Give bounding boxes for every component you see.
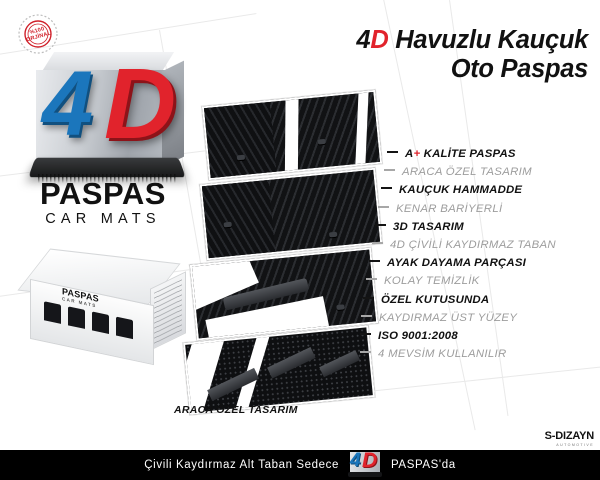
feature-item-1: ARACA ÖZEL TASARIM [384, 166, 600, 184]
mat-stud [329, 232, 337, 238]
banner-text-right: PASPAS'da [391, 459, 456, 471]
feature-dash [387, 151, 398, 153]
feature-dash [360, 351, 371, 353]
feature-item-9: KAYDIRMAZ ÜST YÜZEY [361, 312, 600, 330]
banner-logo-4d: 4 D [345, 450, 385, 480]
gallery-panel-mat-driver-closeup [200, 168, 382, 261]
banner-logo-base [348, 472, 382, 477]
feature-dash [363, 297, 374, 299]
feature-label: AYAK DAYAMA PARÇASI [387, 257, 526, 269]
mat-stud [318, 139, 326, 145]
feature-label: ARACA ÖZEL TASARIM [402, 166, 532, 178]
feature-item-11: 4 MEVSİM KULLANILIR [360, 348, 600, 366]
feature-label: ÖZEL KUTUSUNDA [381, 294, 489, 306]
feature-dash [378, 206, 389, 208]
mat-tread-texture [202, 170, 380, 258]
page-title: 4D Havuzlu Kauçuk Oto Paspas [286, 26, 588, 83]
box-mat-thumb [68, 306, 85, 329]
headline-line1-rest: Havuzlu Kauçuk [388, 26, 588, 54]
feature-item-6: AYAK DAYAMA PARÇASI [369, 257, 600, 275]
feature-label: 4 MEVSİM KULLANILIR [378, 348, 507, 360]
feature-dash [361, 315, 372, 317]
poster-canvas: %100 ORJİNAL 4 D PASPAS CAR MATS PASPAS [0, 0, 600, 480]
tread-chevrons-alt [200, 168, 382, 261]
company-tagline: AUTOMOTIVE [545, 443, 594, 447]
headline-4: 4 [356, 26, 370, 54]
feature-item-7: KOLAY TEMİZLİK [366, 275, 600, 293]
feature-label: KAUÇUK HAMMADDE [399, 184, 522, 196]
bottom-banner: Çivili Kaydırmaz Alt Taban Sedece 4 D PA… [0, 450, 600, 480]
box-mat-thumb [44, 301, 61, 324]
mat-stud [336, 304, 344, 310]
feature-label: KENAR BARİYERLİ [396, 203, 502, 215]
panel-gap [285, 94, 299, 180]
feature-item-2: KAUÇUK HAMMADDE [381, 184, 600, 202]
gallery-caption: ARACA ÖZEL TASARIM [174, 404, 298, 416]
feature-dash [381, 187, 392, 189]
feature-item-10: ISO 9001:2008 [360, 330, 600, 348]
feature-item-3: KENAR BARİYERLİ [378, 203, 600, 221]
feature-label: ISO 9001:2008 [378, 330, 458, 342]
feature-dash [366, 278, 377, 280]
feature-list: A+ KALİTE PASPAS ARACA ÖZEL TASARIM KAUÇ… [360, 148, 600, 366]
headline-d: D [370, 26, 388, 54]
box-mat-thumb [92, 311, 109, 334]
logo-letter-d: D [104, 54, 176, 154]
headline-line-2: Oto Paspas [286, 55, 588, 84]
company-name: S-DIZAYN [545, 430, 594, 442]
mat-stud [224, 222, 232, 228]
feature-label: 3D TASARIM [393, 221, 464, 233]
feature-item-4: 3D TASARIM [375, 221, 600, 239]
banner-logo-4: 4 [350, 451, 361, 470]
feature-label: KAYDIRMAZ ÜST YÜZEY [379, 312, 517, 324]
feature-dash [369, 260, 380, 262]
banner-content: Çivili Kaydırmaz Alt Taban Sedece 4 D PA… [0, 450, 600, 480]
feature-label: KOLAY TEMİZLİK [384, 275, 480, 287]
company-logo: S-DIZAYN AUTOMOTIVE [545, 430, 594, 447]
headline-line-1: 4D Havuzlu Kauçuk [286, 26, 588, 55]
brand-subtitle: CAR MATS [0, 212, 206, 227]
mat-stud [237, 155, 245, 161]
banner-text-left: Çivili Kaydırmaz Alt Taban Sedece [144, 459, 339, 471]
feature-dash [360, 333, 371, 335]
box-mat-thumb [116, 317, 133, 340]
feature-label: 4D ÇİVİLİ KAYDIRMAZ TABAN [390, 239, 556, 251]
feature-item-5: 4D ÇİVİLİ KAYDIRMAZ TABAN [372, 239, 600, 257]
brand-logo-4d: 4 D [28, 44, 188, 179]
feature-dash [375, 224, 386, 226]
feature-item-0: A+ KALİTE PASPAS [387, 148, 600, 166]
brand-name-block: PASPAS CAR MATS [0, 178, 206, 227]
feature-rest: KALİTE PASPAS [420, 148, 515, 160]
product-box: PASPAS CAR MATS [22, 252, 187, 364]
feature-item-8: ÖZEL KUTUSUNDA [363, 294, 600, 312]
banner-logo-d: D [362, 450, 377, 471]
feature-dash [384, 169, 395, 171]
logo-digit-4: 4 [42, 58, 93, 150]
brand-name: PASPAS [0, 178, 206, 209]
feature-dash [372, 242, 383, 244]
feature-label: A+ KALİTE PASPAS [405, 148, 516, 160]
gallery-panel-mat-pair-front [202, 90, 382, 180]
